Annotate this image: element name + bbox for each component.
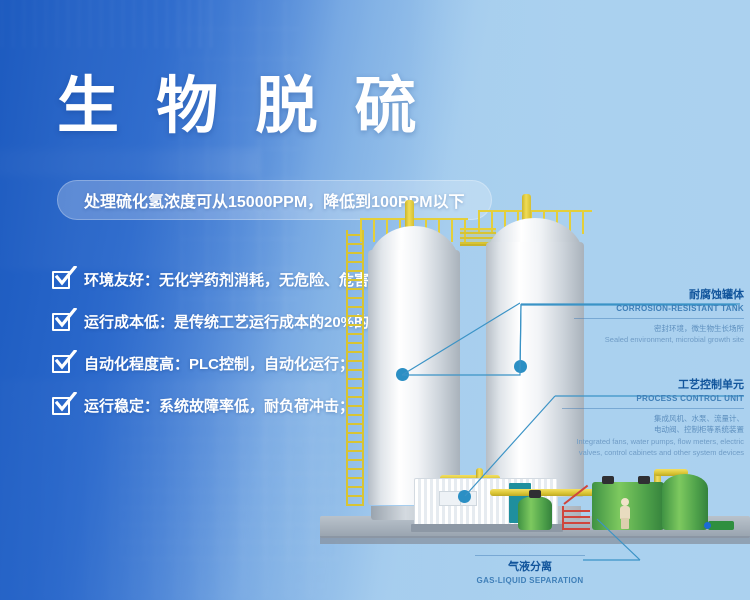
checkbox-checked-icon xyxy=(52,269,73,290)
annotation-desc-en-line2: valves, control cabinets and other syste… xyxy=(548,447,744,458)
pump-skid xyxy=(708,521,734,530)
bio-desulfurization-tank-left xyxy=(368,222,460,512)
green-buffer-tank xyxy=(518,496,552,530)
annotation-desc-zh-line2: 电动阀、控制柜等系统装置 xyxy=(548,424,744,436)
annotation-title-zh: 气液分离 xyxy=(470,560,590,575)
annotation-title-en: CORROSION-RESISTANT TANK xyxy=(558,303,744,315)
annotation-desc-en-line1: Integrated fans, water pumps, flow meter… xyxy=(548,436,744,447)
gas-liquid-separator xyxy=(662,474,708,530)
annotation-gas-liquid-separation: 气液分离 GAS-LIQUID SEPARATION xyxy=(470,552,590,587)
annotation-title-zh: 耐腐蚀罐体 xyxy=(558,288,744,303)
vessel-hatch-icon xyxy=(602,476,614,484)
checkbox-checked-icon xyxy=(52,311,73,332)
annotation-divider xyxy=(475,555,585,556)
annotation-desc-zh: 密封环境，微生物生长场所 xyxy=(558,323,744,335)
annotation-title-zh: 工艺控制单元 xyxy=(548,378,744,393)
vessel-hatch-icon xyxy=(638,476,650,484)
bio-desulfurization-tank-right xyxy=(486,214,584,512)
annotation-title-en: GAS-LIQUID SEPARATION xyxy=(470,575,590,587)
page-title: 生 物 脱 硫 xyxy=(57,76,427,138)
tank-lid-icon xyxy=(529,490,541,498)
hotspot-marker-tank-left[interactable] xyxy=(396,368,409,381)
annotation-divider xyxy=(574,318,744,319)
annotation-desc-zh-line1: 集成风机、水泵、流量计、 xyxy=(548,413,744,425)
hotspot-marker-tank-right[interactable] xyxy=(514,360,527,373)
hotspot-marker-control-unit[interactable] xyxy=(458,490,471,503)
access-stairs xyxy=(562,506,590,530)
annotation-divider xyxy=(562,408,744,409)
annotation-title-en: PROCESS CONTROL UNIT xyxy=(548,393,744,405)
annotation-process-control-unit: 工艺控制单元 PROCESS CONTROL UNIT 集成风机、水泵、流量计、… xyxy=(548,378,744,459)
annotation-corrosion-resistant-tank: 耐腐蚀罐体 CORROSION-RESISTANT TANK 密封环境，微生物生… xyxy=(558,288,744,346)
checkbox-checked-icon xyxy=(52,395,73,416)
ground-platform-shadow xyxy=(320,536,750,544)
scale-figure-person xyxy=(620,498,630,528)
annotation-desc-en: Sealed environment, microbial growth sit… xyxy=(558,334,744,345)
access-ladder-icon xyxy=(346,230,364,506)
checkbox-checked-icon xyxy=(52,353,73,374)
poster-canvas: 生 物 脱 硫 处理硫化氢浓度可从15000PPM，降低到100PPM以下 环境… xyxy=(0,0,750,600)
